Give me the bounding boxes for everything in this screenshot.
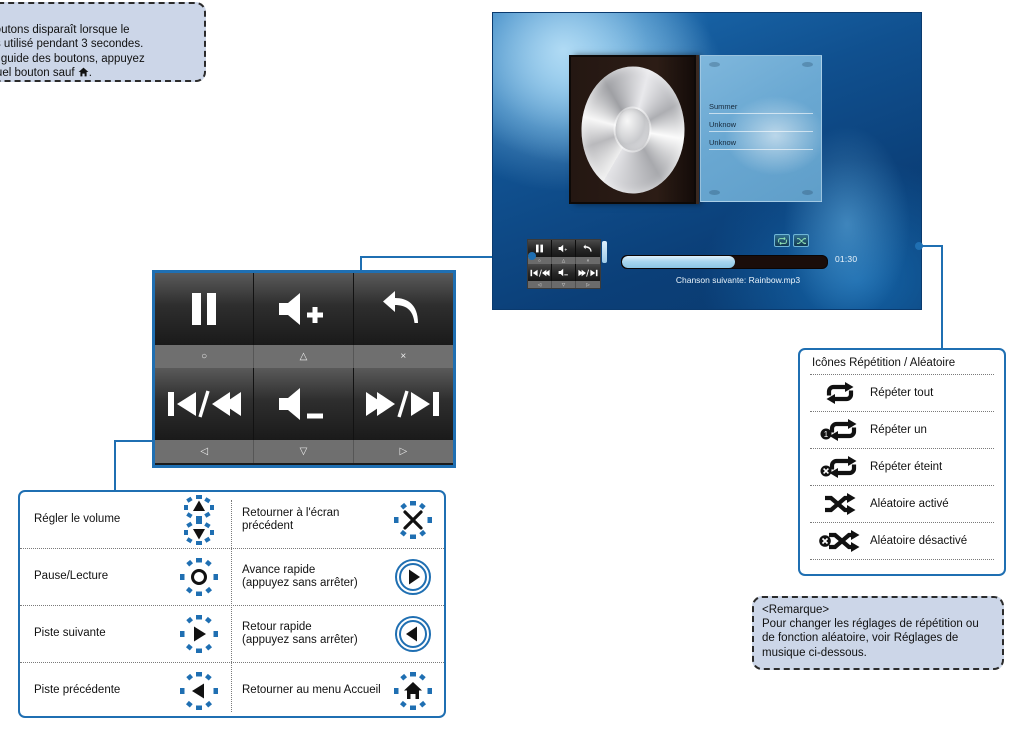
guide-label-next: ▷ [354,440,453,463]
guide-label-pause: ○ [155,345,254,368]
repeat-legend-title: Icônes Répétition / Aléatoire [810,356,994,374]
table-row: Piste précédente Retourner au menu Accue… [20,663,444,719]
shuffle-off-icon [810,529,870,553]
mini-guide-row: + [528,240,600,257]
panel-corner [802,62,813,67]
repeat-legend-label: Aléatoire activé [870,498,994,510]
guide-label-volume-down: ▽ [254,440,353,463]
legend-label-rewind: Retour rapide (appuyez sans arrêter) [228,621,384,648]
note-body: Pour changer les réglages de répétition … [762,617,994,660]
mini-label: ▷ [576,281,600,288]
connector-player-to-rep-vert [941,245,943,350]
svg-text:1: 1 [824,430,829,439]
guide-scroll-indicator[interactable] [602,241,607,263]
guide-row-bottom [155,368,453,440]
repeat-all-icon [810,381,870,405]
list-item: Répéter tout [810,374,994,411]
legend-label-line: précédent [242,520,384,534]
volume-up-icon[interactable] [254,273,353,345]
legend-label-home-menu: Retourner au menu Accueil [228,684,384,698]
track-album: Unknow [709,138,813,150]
repeat-all-icon[interactable] [774,234,790,247]
pause-icon[interactable] [155,273,254,345]
svg-text:+: + [564,247,567,253]
repeat-legend-label: Répéter un [870,424,994,436]
legend-label-prev-track: Piste précédente [20,684,170,698]
repeat-shuffle-legend: Icônes Répétition / Aléatoire Répéter to… [798,348,1006,576]
prev-track-dpad-icon [170,672,228,710]
next-forward-icon[interactable] [354,368,453,440]
fast-forward-hold-icon [384,558,442,596]
mini-guide-label-row: ◁ ▽ ▷ [528,281,600,288]
cd-hole [625,121,640,139]
prev-rewind-icon[interactable] [155,368,254,440]
return-icon[interactable] [576,240,600,257]
legend-vertical-divider [231,500,232,712]
return-icon[interactable] [354,273,453,345]
shuffle-on-icon [810,492,870,516]
guide-label-volume-up: △ [254,345,353,368]
legend-label-return-previous: Retourner à l'écran précédent [228,507,384,534]
next-song-label: Chanson suivante: Rainbow.mp3 [623,275,853,285]
guide-row-top [155,273,453,345]
connector-guide-to-legend-vert [114,440,116,492]
connector-player-to-rep-horiz [921,245,943,247]
note-line: afficher le guide des boutons, appuyez [0,52,196,66]
mini-label: ◁ [528,281,552,288]
onscreen-button-guide[interactable]: + ○ △ × ◁ ▽ ▷ [527,239,601,289]
table-row: Régler le volume Retour [20,492,444,549]
button-function-legend: Régler le volume Retour [18,490,446,718]
note-repeat-shuffle-settings: <Remarque> Pour changer les réglages de … [752,596,1004,670]
volume-down-icon[interactable] [254,368,353,440]
pause-play-dpad-icon [170,558,228,596]
legend-label-line: Retourner à l'écran [242,507,384,521]
mini-guide-row [528,264,600,281]
list-item: Aléatoire désactivé [810,522,994,560]
guide-label-row-top: ○ △ × [155,345,453,368]
next-track-dpad-icon [170,615,228,653]
rewind-hold-icon [384,615,442,653]
legend-label-next-track: Piste suivante [20,627,170,641]
repeat-legend-label: Aléatoire désactivé [870,535,994,547]
cd-disc-icon [581,66,684,193]
panel-corner [802,190,813,195]
table-row: Piste suivante Retour rapide (appuyez sa… [20,606,444,663]
shuffle-on-icon[interactable] [793,234,809,247]
volume-updown-dpad-icon [170,495,228,545]
legend-label-line: Avance rapide [242,564,384,578]
list-item: Répéter éteint [810,448,994,485]
legend-label-volume: Régler le volume [20,513,170,527]
time-label: 01:30 [835,254,857,264]
mini-label: × [576,257,600,264]
media-player-screen: Summer Unknow Unknow + ○ △ × [492,12,922,310]
mini-label: △ [552,257,576,264]
list-item: Aléatoire activé [810,485,994,522]
legend-label-line: (appuyez sans arrêter) [242,634,384,648]
note-line: ide des boutons disparaît lorsque le [0,23,196,37]
home-dpad-icon [384,672,442,710]
playback-status-icons [774,234,809,247]
repeat-legend-label: Répéter éteint [870,461,994,473]
note-button-guide-timeout: arque> ide des boutons disparaît lorsque… [0,2,206,82]
repeat-legend-label: Répéter tout [870,387,994,399]
panel-corner [709,190,720,195]
note-line: r n'est pas utilisé pendant 3 secondes. [0,37,196,51]
enlarged-button-guide: ○ △ × ◁ ▽ ▷ [152,270,456,468]
connector-guide-to-legend-horiz [114,440,154,442]
progress-bar[interactable] [621,255,828,269]
mini-label: ▽ [552,281,576,288]
note-title: <Remarque> [762,603,994,617]
mini-guide-label-row: ○ △ × [528,257,600,264]
connector-player-to-guide [360,256,492,258]
volume-down-icon[interactable] [552,264,576,281]
panel-corner [709,62,720,67]
table-row: Pause/Lecture Avance rapide (appuyez san… [20,549,444,606]
list-item: 1 Répéter un [810,411,994,448]
home-icon [78,67,89,81]
prev-rewind-icon[interactable] [528,264,552,281]
close-dpad-icon [384,501,442,539]
legend-label-line: (appuyez sans arrêter) [242,577,384,591]
note-line: arque> [0,9,196,23]
note-line-period: . [89,67,92,79]
track-info-panel: Summer Unknow Unknow [700,55,822,202]
legend-label-line: Retour rapide [242,621,384,635]
cd-jewel-case [569,55,696,204]
track-title: Summer [709,102,813,114]
repeat-off-icon [810,455,870,479]
legend-label-fast-forward: Avance rapide (appuyez sans arrêter) [228,564,384,591]
legend-label-pause-play: Pause/Lecture [20,570,170,584]
guide-label-return: × [354,345,453,368]
connector-dot-player-left [528,252,536,260]
volume-up-icon[interactable]: + [552,240,576,257]
repeat-one-icon: 1 [810,418,870,442]
guide-label-prev: ◁ [155,440,254,463]
track-artist: Unknow [709,120,813,132]
next-forward-icon[interactable] [576,264,600,281]
guide-label-row-bottom: ◁ ▽ ▷ [155,440,453,463]
progress-bar-fill [622,256,735,268]
note-line-text: importe quel bouton sauf [0,67,75,79]
note-line-with-icon: importe quel bouton sauf . [0,66,196,80]
